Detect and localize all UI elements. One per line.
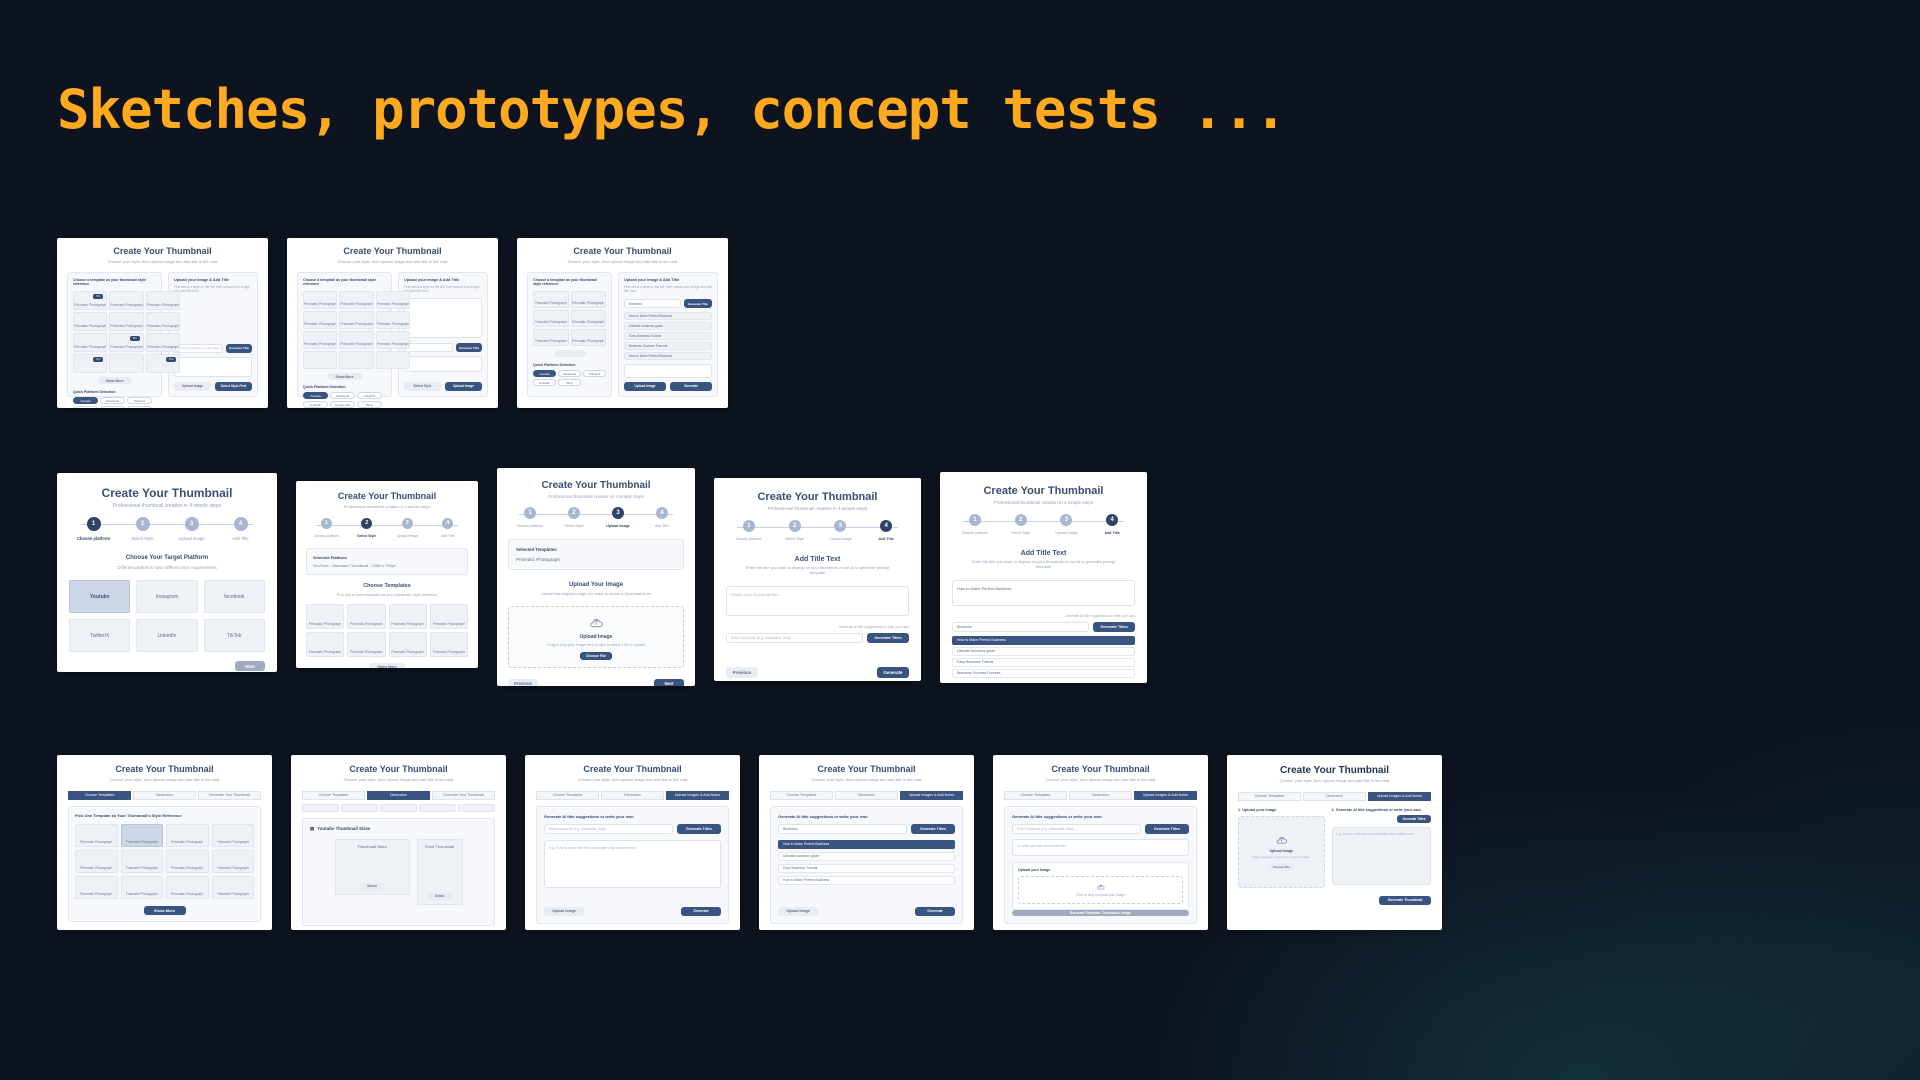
template-tile[interactable]: Prismatic Photograph <box>533 329 569 346</box>
pro-badge: Pro <box>166 357 176 362</box>
step-4[interactable]: 4Add Title <box>640 507 684 528</box>
template-tile[interactable] <box>339 351 373 369</box>
template-tile[interactable]: Prismatic Photograph <box>75 876 118 899</box>
template-tile[interactable]: Prismatic Photograph <box>430 632 468 657</box>
generate-titles-button[interactable]: Generate Titles <box>867 633 909 643</box>
template-tile-label: Prismatic Photograph <box>74 324 106 330</box>
right-step-label: 2. Generate AI title suggestions or writ… <box>1332 808 1431 813</box>
step-2[interactable]: 2Select Style <box>998 514 1044 535</box>
step-1[interactable]: 1Choose platform <box>952 514 998 535</box>
template-tile[interactable]: Prismatic Photograph <box>376 331 410 349</box>
step-3[interactable]: 3Upload Image <box>818 520 864 541</box>
template-tile[interactable]: Prismatic Photograph <box>533 291 569 308</box>
tab-bar: Choose Templates Dimension Generate Your… <box>68 791 261 800</box>
page-subtitle: Choose your style, then upload image and… <box>68 778 261 783</box>
generate-button[interactable]: Generate <box>877 667 909 678</box>
upload-image-button[interactable]: Upload Image <box>778 907 818 916</box>
step-3[interactable]: 3Upload Image <box>596 507 640 528</box>
platform-pill-blog[interactable]: Blog <box>357 401 382 408</box>
template-tile[interactable]: Prismatic Photograph <box>430 604 468 629</box>
template-tile[interactable]: Prismatic Photograph <box>146 333 180 352</box>
selected-template-panel: Selected Templates Prismatic Photograph <box>508 539 684 570</box>
generate-titles-button[interactable]: Generate Titles <box>1145 824 1189 834</box>
template-tile-label: Prismatic Photograph <box>377 322 409 328</box>
template-tile[interactable]: Prismatic Photograph <box>306 632 344 657</box>
template-tile-label: Prismatic Photograph <box>304 342 336 348</box>
image-dropzone[interactable]: Click or drag to upload your image <box>1018 876 1183 904</box>
step-label: Add Title <box>863 537 909 541</box>
template-tile-label: Prismatic Photograph <box>304 322 336 328</box>
template-tile[interactable]: Prismatic Photograph <box>212 876 255 899</box>
template-tile[interactable]: Prismatic Photograph <box>75 850 118 873</box>
platform-pill-facebook[interactable]: Facebook <box>330 392 355 399</box>
dropzone-subtitle: Drag & drop your image here or click to … <box>1247 855 1316 859</box>
step-number: 4 <box>880 520 892 532</box>
panel-title: Generate AI title suggestions or write y… <box>1012 814 1189 819</box>
page-subtitle: Choose your style, then upload image and… <box>1238 779 1431 784</box>
template-tile[interactable]: Prismatic Photograph <box>376 311 410 329</box>
choose-file-button[interactable]: Choose File <box>1268 863 1294 870</box>
step-1[interactable]: 1Choose platform <box>726 520 772 541</box>
generate-title-button[interactable]: Generate Title <box>456 343 482 352</box>
tab-dimension[interactable]: Dimension <box>367 791 430 800</box>
template-tile[interactable]: Prismatic Photograph <box>109 312 143 331</box>
mock-card-r1c2[interactable]: Create Your Thumbnail Choose your style,… <box>287 238 498 408</box>
template-tile-label: Prismatic Photograph <box>572 320 604 326</box>
notes-textarea[interactable] <box>404 356 482 372</box>
title-suggestion[interactable]: Business Success Formula <box>952 669 1135 678</box>
mock-card-r3c2[interactable]: Create Your Thumbnail Choose your style,… <box>291 755 506 930</box>
template-tile-label: Prismatic Photograph <box>126 892 158 898</box>
step-number: 4 <box>234 517 248 531</box>
tab-dimension[interactable]: Dimension <box>1069 791 1132 800</box>
template-tile[interactable]: Prismatic Photograph <box>73 333 107 352</box>
select-style-button[interactable]: Select Style <box>404 382 441 391</box>
section-title: Choose Templates <box>306 584 468 590</box>
template-tile[interactable]: Prismatic Photograph <box>533 310 569 327</box>
platform-pill-linkedin[interactable]: LinkedIn <box>303 401 328 408</box>
platform-card-tiktok[interactable]: TikTok <box>204 619 265 652</box>
tab-dimension[interactable]: Dimension <box>133 791 196 800</box>
presentation-slide: Sketches, prototypes, concept tests ... … <box>0 0 1920 1080</box>
option-label: Thumbnail Sizes <box>357 844 387 849</box>
template-tile-label: Prismatic Photograph <box>572 339 604 345</box>
panel-title: Choose a template as your thumbnail styl… <box>73 278 156 287</box>
panel-title: Upload your Image & Add Title <box>624 278 712 282</box>
notes-textarea[interactable]: e.g. How to make the best chocolate chip… <box>1332 827 1431 885</box>
template-panel: Choose a template as your thumbnail styl… <box>297 272 392 397</box>
tab-bar: Choose Templates Dimension Upload Images… <box>536 791 729 800</box>
title-textarea[interactable]: What's your thumbnail title... <box>726 586 909 616</box>
section-subtitle: Upload the original image you want to cr… <box>508 592 684 597</box>
step-label: Add Title <box>216 536 265 541</box>
template-tile[interactable]: Prismatic Photograph <box>376 291 410 309</box>
step-number: 3 <box>185 517 199 531</box>
image-dropzone[interactable]: Upload Image Drag & drop your image here… <box>508 606 684 668</box>
platform-pill-youtube[interactable]: Youtube <box>303 392 328 399</box>
mock-card-r3c6[interactable]: Create Your Thumbnail Choose your style,… <box>1227 755 1442 930</box>
show-more-button[interactable] <box>554 350 586 357</box>
step-number: 2 <box>1015 514 1027 526</box>
platform-pill-blog[interactable]: Blog <box>558 379 581 386</box>
title-textarea[interactable]: How to Make Perfect Business <box>952 580 1135 606</box>
page-subtitle: Professional thumbnail creation in 4 sim… <box>69 503 265 509</box>
template-tile[interactable]: Prismatic Photograph <box>339 291 373 309</box>
tab-upload-notes[interactable]: Upload Images & Add Notes <box>666 791 729 800</box>
template-tile[interactable]: Pro <box>73 354 107 373</box>
generate-thumbnail-button[interactable]: Generate Thumbnail <box>1379 896 1431 905</box>
platform-pill-googleads[interactable]: Google Ads <box>100 406 125 408</box>
show-more-button[interactable]: Show More <box>98 377 132 384</box>
keyword-input[interactable]: Business <box>952 622 1089 632</box>
title-suggestion[interactable]: Ultimate business guide <box>952 647 1135 656</box>
tab-choose-templates[interactable]: Choose Templates <box>1004 791 1067 800</box>
generate-button[interactable]: Generate <box>915 907 955 916</box>
step-number: 2 <box>361 518 372 529</box>
template-tile[interactable]: Prismatic Photograph <box>75 824 118 847</box>
page-subtitle: Professional thumbnail creation in 4 sim… <box>306 505 468 510</box>
template-tile[interactable]: Prismatic Photograph <box>339 311 373 329</box>
step-indicator: 1Choose platform 2Select Style 3Upload I… <box>952 514 1135 535</box>
step-label: Choose platform <box>508 524 552 528</box>
notes-textarea[interactable] <box>624 364 712 378</box>
title-suggestion[interactable]: How to Make Perfect Business <box>952 636 1135 645</box>
panel-title: Youtube Thumbnail Sizes <box>317 826 370 831</box>
platform-pill-blog[interactable]: Blog <box>127 406 152 408</box>
platform-card-facebook[interactable]: facebook <box>204 580 265 613</box>
step-number: 4 <box>1106 514 1118 526</box>
template-tile[interactable]: Prismatic Photograph <box>389 604 427 629</box>
page-title: Create Your Thumbnail <box>536 765 729 775</box>
mock-card-r1c1[interactable]: Create Your Thumbnail Choose your style,… <box>57 238 268 408</box>
step-4[interactable]: 4Add Title <box>216 517 265 541</box>
template-tile[interactable]: Prismatic Photograph <box>121 876 164 899</box>
notes-panel: Generate AI title suggestions or write y… <box>536 806 729 924</box>
mock-card-r1c3[interactable]: Create Your Thumbnail Choose your style,… <box>517 238 728 408</box>
page-title: Create Your Thumbnail <box>1004 765 1197 775</box>
template-tile-label: Prismatic Photograph <box>171 840 203 846</box>
screenshot-row-1: Create Your Thumbnail Choose your style,… <box>57 238 728 408</box>
step-indicator: 1Choose platform 2Select Style 3Upload I… <box>726 520 909 541</box>
mock-card-r3c1[interactable]: Create Your Thumbnail Choose your style,… <box>57 755 272 930</box>
generate-title-button[interactable]: Generate Title <box>684 299 712 308</box>
previous-button[interactable]: Previous <box>726 667 758 678</box>
template-tile[interactable]: Prismatic Photograph <box>121 824 164 847</box>
template-tile-label: Prismatic Photograph <box>535 320 567 326</box>
step-4[interactable]: 4Add Title <box>1089 514 1135 535</box>
template-panel: Choose a template as your thumbnail styl… <box>527 272 612 397</box>
keyword-input[interactable] <box>404 343 453 352</box>
template-tile[interactable]: Prismatic Photograph <box>166 824 209 847</box>
template-tile[interactable]: ProPrismatic Photograph <box>109 333 143 352</box>
step-4[interactable]: 4Add Title <box>428 518 469 538</box>
tab-upload-notes[interactable]: Upload Images & Add Notes <box>1134 791 1197 800</box>
image-dropzone[interactable]: Upload Image Drag & drop your image here… <box>1238 816 1325 888</box>
platform-card-instagram[interactable]: Instagram <box>136 580 197 613</box>
template-tile[interactable]: Prismatic Photograph <box>146 291 180 310</box>
select-left-button[interactable]: Select <box>359 883 385 890</box>
platform-pill-twitter[interactable]: Twitter/X <box>127 397 152 404</box>
tab-bar: Choose Templates Dimension Upload Images… <box>1238 792 1431 801</box>
title-suggestion[interactable]: How to Make Perfect Business <box>778 876 955 885</box>
page-subtitle: Choose your style, then upload image and… <box>67 260 258 265</box>
step-2[interactable]: 2Select Style <box>118 517 167 541</box>
template-tile-label: Prismatic Photograph <box>340 342 372 348</box>
step-label: Select Style <box>347 534 388 538</box>
screenshot-row-2: Create Your Thumbnail Professional thumb… <box>57 473 1147 686</box>
upload-column: 1. Upload your Image Upload Image Drag &… <box>1238 808 1325 888</box>
tab-generate[interactable]: Generate Your Thumbnail <box>432 791 495 800</box>
platform-card-youtube[interactable]: Youtube <box>69 580 130 613</box>
panel-title: Upload your Image & Add Title <box>174 278 252 282</box>
choose-file-button[interactable]: Choose File <box>580 652 612 660</box>
generate-button[interactable]: Generate <box>670 382 712 391</box>
template-tile[interactable] <box>303 351 337 369</box>
tab-generate[interactable]: Generate Your Thumbnail <box>198 791 261 800</box>
tab-choose-templates[interactable]: Choose Templates <box>302 791 365 800</box>
tab-bar: Choose Templates Dimension Generate Your… <box>302 791 495 800</box>
generate-titles-button[interactable]: Generate Titles <box>911 824 955 834</box>
tab-choose-templates[interactable]: Choose Templates <box>536 791 599 800</box>
template-tile[interactable]: Prismatic Photograph <box>146 312 180 331</box>
size-chip[interactable] <box>419 804 456 812</box>
platform-pill-youtube[interactable]: Youtube <box>533 370 556 377</box>
title-suggestion[interactable]: How to Make Perfect Business <box>624 312 712 320</box>
template-tile[interactable]: Pro <box>146 354 180 373</box>
title-suggestion[interactable]: Easy Business Tutorial <box>778 864 955 873</box>
step-label: Upload Image <box>167 536 216 541</box>
template-tile-label: Prismatic Photograph <box>350 650 382 656</box>
upload-cloud-icon <box>1096 882 1105 891</box>
page-title: Create Your Thumbnail <box>508 480 684 491</box>
keyword-input[interactable]: Business <box>778 824 907 834</box>
size-chip[interactable] <box>380 804 417 812</box>
page-subtitle: Choose your style, then upload image and… <box>527 260 718 265</box>
page-subtitle: Professional thumbnail creation in 4 sim… <box>508 494 684 499</box>
platform-pill-facebook[interactable]: Facebook <box>100 397 125 404</box>
template-tile[interactable]: Prismatic Photograph <box>339 331 373 349</box>
tab-upload-notes[interactable]: Upload Images & Add Notes <box>900 791 963 800</box>
page-title: Create Your Thumbnail <box>770 765 963 775</box>
generate-button[interactable]: Generate <box>681 907 721 916</box>
page-title: Create Your Thumbnail <box>302 765 495 775</box>
template-tile-label: Prismatic Photograph <box>309 622 341 628</box>
dimension-panel: ▤ Youtube Thumbnail Sizes Thumbnail Size… <box>302 818 495 926</box>
step-1[interactable]: 1Choose platform <box>508 507 552 528</box>
keyword-input[interactable]: Business <box>624 299 681 308</box>
keyword-input[interactable]: Enter keywords (e.g. minimalist, bold) <box>544 824 673 834</box>
template-tile[interactable]: Prismatic Photograph <box>571 310 607 327</box>
template-tile[interactable]: Prismatic Photograph <box>571 291 607 308</box>
panel-title: Generate AI title suggestions or write y… <box>778 814 955 819</box>
platform-pill-googleads[interactable]: Google Ads <box>330 401 355 408</box>
notes-textarea[interactable]: e.g. How to make the best chocolate chip… <box>544 840 721 888</box>
mock-card-r2c3[interactable]: Create Your Thumbnail Professional thumb… <box>497 468 695 686</box>
step-2[interactable]: 2Select Style <box>347 518 388 538</box>
show-more-button[interactable]: Show More <box>369 663 405 668</box>
step-1[interactable]: 1Choose platform <box>306 518 347 538</box>
platform-pill-linkedin[interactable]: LinkedIn <box>533 379 556 386</box>
template-tile[interactable]: ProPrismatic Photograph <box>73 291 107 310</box>
template-tile[interactable]: Prismatic Photograph <box>212 824 255 847</box>
keyword-input[interactable]: Enter keywords (e.g. minimalist, bold) <box>1012 824 1141 834</box>
template-tile-label: Prismatic Photograph <box>350 622 382 628</box>
previous-button[interactable]: Previous <box>508 679 538 686</box>
platform-pill-twitter[interactable]: Twitter/X <box>583 370 606 377</box>
page-title: Create Your Thumbnail <box>297 247 488 257</box>
generate-title-button[interactable]: Generate Title <box>226 344 252 353</box>
template-tile-label: Prismatic Photograph <box>391 622 423 628</box>
step-3[interactable]: 3Upload Image <box>1044 514 1090 535</box>
show-more-button[interactable]: Show More <box>328 373 362 380</box>
selected-platform-value: YouTube - Standard Thumbnail - 1280 x 72… <box>313 563 461 568</box>
template-tile[interactable]: Prismatic Photograph <box>571 329 607 346</box>
mock-card-r2c4[interactable]: Create Your Thumbnail Professional thumb… <box>714 478 921 681</box>
step-2[interactable]: 2Select Style <box>552 507 596 528</box>
title-suggestion[interactable]: Business Success Formula <box>624 342 712 350</box>
dropzone-title: Upload Image <box>1269 849 1293 853</box>
template-tile[interactable]: Prismatic Photograph <box>73 312 107 331</box>
title-suggestion[interactable]: Ultimate business guide <box>778 852 955 861</box>
template-tile[interactable]: Prismatic Photograph <box>109 291 143 310</box>
show-more-button[interactable]: Show More <box>144 906 186 915</box>
mock-card-r2c5[interactable]: Create Your Thumbnail Professional thumb… <box>940 472 1147 683</box>
tab-choose-templates[interactable]: Choose Templates <box>1238 792 1301 801</box>
tab-choose-templates[interactable]: Choose Templates <box>68 791 131 800</box>
tab-dimension[interactable]: Dimension <box>1303 792 1366 801</box>
notes-textarea[interactable]: To write your own thumbnail title... <box>1012 839 1189 856</box>
title-suggestion[interactable]: Easy Business Tutorial <box>624 332 712 340</box>
select-style-button[interactable]: Select Style First <box>215 382 252 391</box>
mock-card-r3c4[interactable]: Create Your Thumbnail Choose your style,… <box>759 755 974 930</box>
keyword-input[interactable]: Enter keywords (e.g. minimalist, bold) <box>726 633 863 643</box>
step-1[interactable]: 1Choose platform <box>69 517 118 541</box>
mock-card-r2c1[interactable]: Create Your Thumbnail Professional thumb… <box>57 473 277 672</box>
step-4[interactable]: 4Add Title <box>863 520 909 541</box>
template-tile[interactable]: Prismatic Photograph <box>212 850 255 873</box>
platform-card-twitter[interactable]: Twitter/X <box>69 619 130 652</box>
mock-card-r2c2[interactable]: Create Your Thumbnail Professional thumb… <box>296 481 478 668</box>
step-3[interactable]: 3Upload Image <box>167 517 216 541</box>
selected-template-value: Prismatic Photograph <box>516 557 676 562</box>
template-tile-label: Prismatic Photograph <box>433 622 465 628</box>
section-title: Add Title Text <box>726 556 909 564</box>
title-suggestion[interactable]: How to Make Perfect Business <box>778 840 955 849</box>
size-chip[interactable] <box>341 804 378 812</box>
step-label: Choose platform <box>726 537 772 541</box>
template-tile-label: Prismatic Photograph <box>340 322 372 328</box>
tab-dimension[interactable]: Dimension <box>601 791 664 800</box>
title-suggestion[interactable]: Easy Business Tutorial <box>952 658 1135 667</box>
select-right-button[interactable]: Select <box>427 893 453 900</box>
template-tile-label: Prismatic Photograph <box>147 324 179 330</box>
next-button[interactable]: Next <box>235 661 265 671</box>
step-label: Choose platform <box>306 534 347 538</box>
step-3[interactable]: 3Upload Image <box>387 518 428 538</box>
template-tile[interactable]: Prismatic Photograph <box>389 632 427 657</box>
tab-bar: Choose Templates Dimension Upload Images… <box>1004 791 1197 800</box>
template-tile[interactable]: Prismatic Photograph <box>166 850 209 873</box>
title-suggestion[interactable]: Ultimate business guide <box>624 322 712 330</box>
size-chip[interactable] <box>458 804 495 812</box>
template-tile[interactable]: Prismatic Photograph <box>166 876 209 899</box>
step-indicator: 1Choose platform 2Select Style 3Upload I… <box>306 518 468 538</box>
template-tile-label: Prismatic Photograph <box>433 650 465 656</box>
template-panel: Choose a template as your thumbnail styl… <box>67 272 162 397</box>
tab-dimension[interactable]: Dimension <box>835 791 898 800</box>
platform-pill-linkedin[interactable]: LinkedIn <box>73 406 98 408</box>
upload-image-button[interactable]: Upload Image <box>445 382 482 391</box>
template-tile[interactable] <box>376 351 410 369</box>
step-number: 1 <box>743 520 755 532</box>
option-label: Short Thumbnail <box>425 844 454 849</box>
panel-subtitle: First select a style on the left, then u… <box>174 285 252 293</box>
platform-label: Twitter/X <box>90 633 109 639</box>
step-2[interactable]: 2Select Style <box>772 520 818 541</box>
tab-choose-templates[interactable]: Choose Templates <box>770 791 833 800</box>
template-tile[interactable]: Prismatic Photograph <box>303 331 337 349</box>
keyword-input[interactable]: Enter keywords (e.g. title slide color) <box>174 344 223 353</box>
size-chip[interactable] <box>302 804 339 812</box>
template-tile-label: Prismatic Photograph <box>74 345 106 351</box>
platform-card-linkedin[interactable]: LinkedIn <box>136 619 197 652</box>
generate-all-button[interactable]: Generate Template, Dimension, Image <box>1012 910 1189 916</box>
template-tile[interactable]: Prismatic Photograph <box>306 604 344 629</box>
page-title: Create Your Thumbnail <box>67 247 258 257</box>
platform-label: LinkedIn <box>158 633 177 639</box>
template-tile[interactable]: Prismatic Photograph <box>121 850 164 873</box>
page-subtitle: Choose your style, then upload image and… <box>302 778 495 783</box>
platform-pill-youtube[interactable]: Youtube <box>73 397 98 404</box>
tab-upload-notes[interactable]: Upload Images & Add Notes <box>1368 792 1431 801</box>
templates-panel: Pick One Template as Your Thumbnail's St… <box>68 806 261 922</box>
selected-platform-label: Selected Platform <box>313 555 461 560</box>
platform-pill-facebook[interactable]: Facebook <box>558 370 581 377</box>
mock-card-r3c5[interactable]: Create Your Thumbnail Choose your style,… <box>993 755 1208 930</box>
section-title: Add Title Text <box>952 550 1135 558</box>
panel-title: Choose a template as your thumbnail styl… <box>533 278 606 287</box>
template-tile-label: Prismatic Photograph <box>304 302 336 308</box>
upload-cloud-icon <box>1275 833 1288 846</box>
platform-pill-twitter[interactable]: Twitter/X <box>357 392 382 399</box>
upload-image-button[interactable]: Upload Image <box>624 382 666 391</box>
section-title: Choose Your Target Platform <box>69 555 265 562</box>
title-suggestion[interactable]: How to Make Perfect Business <box>624 352 712 360</box>
notes-textarea[interactable] <box>174 357 252 377</box>
mock-card-r3c3[interactable]: Create Your Thumbnail Choose your style,… <box>525 755 740 930</box>
template-tile-label: Prismatic Photograph <box>126 840 158 846</box>
template-tile-label: Prismatic Photograph <box>535 301 567 307</box>
template-tile[interactable]: Prismatic Photograph <box>347 632 385 657</box>
generate-titles-button[interactable]: Generate Titles <box>677 824 721 834</box>
upload-image-button[interactable]: Upload Image <box>174 382 211 391</box>
template-tile[interactable]: Prismatic Photograph <box>303 291 337 309</box>
step-number: 1 <box>87 517 101 531</box>
template-tile[interactable]: Prismatic Photograph <box>303 311 337 329</box>
panel-subtitle: First select a style on the left, then u… <box>624 285 712 293</box>
next-button[interactable]: Next <box>654 679 684 686</box>
upload-title: Upload your Image <box>1018 868 1183 872</box>
template-tile[interactable] <box>109 354 143 373</box>
template-tile-label: Prismatic Photograph <box>171 892 203 898</box>
generate-titles-button[interactable]: Generate Titles <box>1093 622 1135 632</box>
panel-title: Generate AI title suggestions or write y… <box>544 814 721 819</box>
pro-badge: Pro <box>93 294 103 299</box>
generate-titles-button[interactable]: Generate Titles <box>1397 815 1431 823</box>
platform-label: Instagram <box>156 594 178 600</box>
upload-image-button[interactable]: Upload Image <box>544 907 584 916</box>
template-tile[interactable]: Prismatic Photograph <box>347 604 385 629</box>
